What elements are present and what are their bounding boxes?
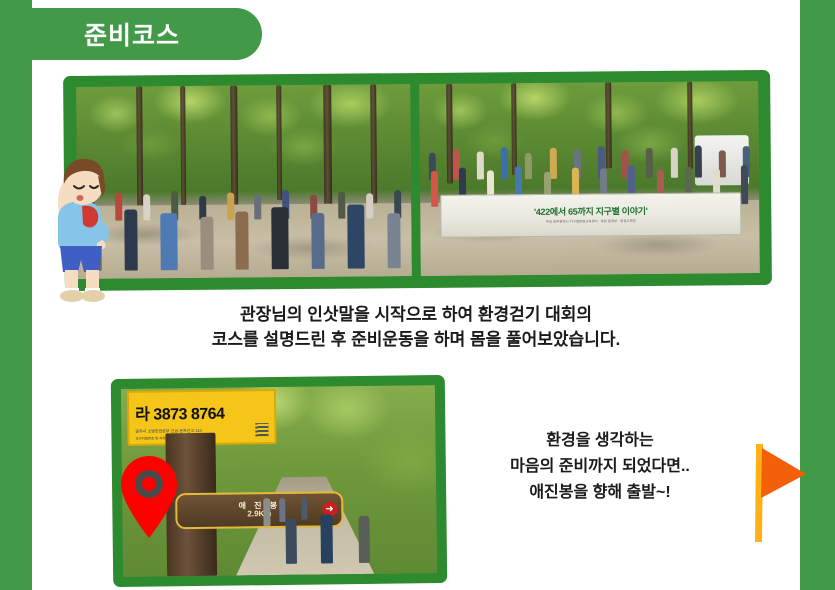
left-green-bar [0, 0, 32, 590]
main-caption-line-2: 코스를 설명드린 후 준비운동을 하며 몸을 풀어보았습니다. [32, 328, 800, 353]
right-caption: 환경을 생각하는 마음의 준비까지 되었다면.. 애진봉을 향해 출발~! [455, 428, 745, 506]
flag-icon [748, 440, 810, 545]
group-banner-photo: '422에서 65까지 지구별 이야기' 주최 광주광역시 지구별환경교육센터 … [419, 81, 760, 276]
slide-canvas: 준비코스 [0, 0, 835, 590]
forest-gathering-photo [76, 84, 412, 279]
hiker-figure [264, 498, 271, 526]
title-banner: 준비코스 [32, 8, 262, 60]
hiker-figure [320, 514, 333, 563]
main-caption: 관장님의 인삿말을 시작으로 하여 환경걷기 대회의 코스를 설명드린 후 준비… [32, 303, 800, 352]
main-caption-line-1: 관장님의 인삿말을 시작으로 하여 환경걷기 대회의 [32, 303, 800, 328]
hiker-figure [279, 498, 285, 523]
right-caption-line-2: 마음의 준비까지 되었다면.. [455, 454, 745, 480]
map-pin-icon [118, 455, 180, 539]
tree-trunk [370, 84, 377, 203]
event-banner-text: '422에서 65까지 지구별 이야기' [534, 207, 648, 217]
event-banner-subtext: 주최 광주광역시 지구별환경교육센터 · 후원 환경부 · 환경교육원 [546, 218, 636, 224]
hiker-figure [301, 498, 307, 521]
hiker-figure [286, 518, 298, 563]
top-photo-frame: '422에서 65까지 지구별 이야기' 주최 광주광역시 지구별환경교육센터 … [63, 70, 772, 291]
tree-trunk [180, 86, 186, 205]
right-caption-line-1: 환경을 생각하는 [455, 428, 745, 454]
page-title: 준비코스 [84, 16, 180, 52]
hiker-figure [358, 516, 370, 563]
event-banner: '422에서 65까지 지구별 이야기' 주최 광주광역시 지구별환경교육센터 … [440, 193, 741, 238]
emergency-sign-number: 라 3873 8764 [135, 400, 225, 425]
trail-marker-sign: 애 진 봉 2.9Km ➜ [176, 491, 344, 529]
right-caption-line-3: 애진봉을 향해 출발~! [455, 480, 745, 506]
qr-code-icon [255, 423, 268, 436]
stretching-kid-icon [36, 148, 114, 303]
crowd-front-row [77, 203, 412, 271]
